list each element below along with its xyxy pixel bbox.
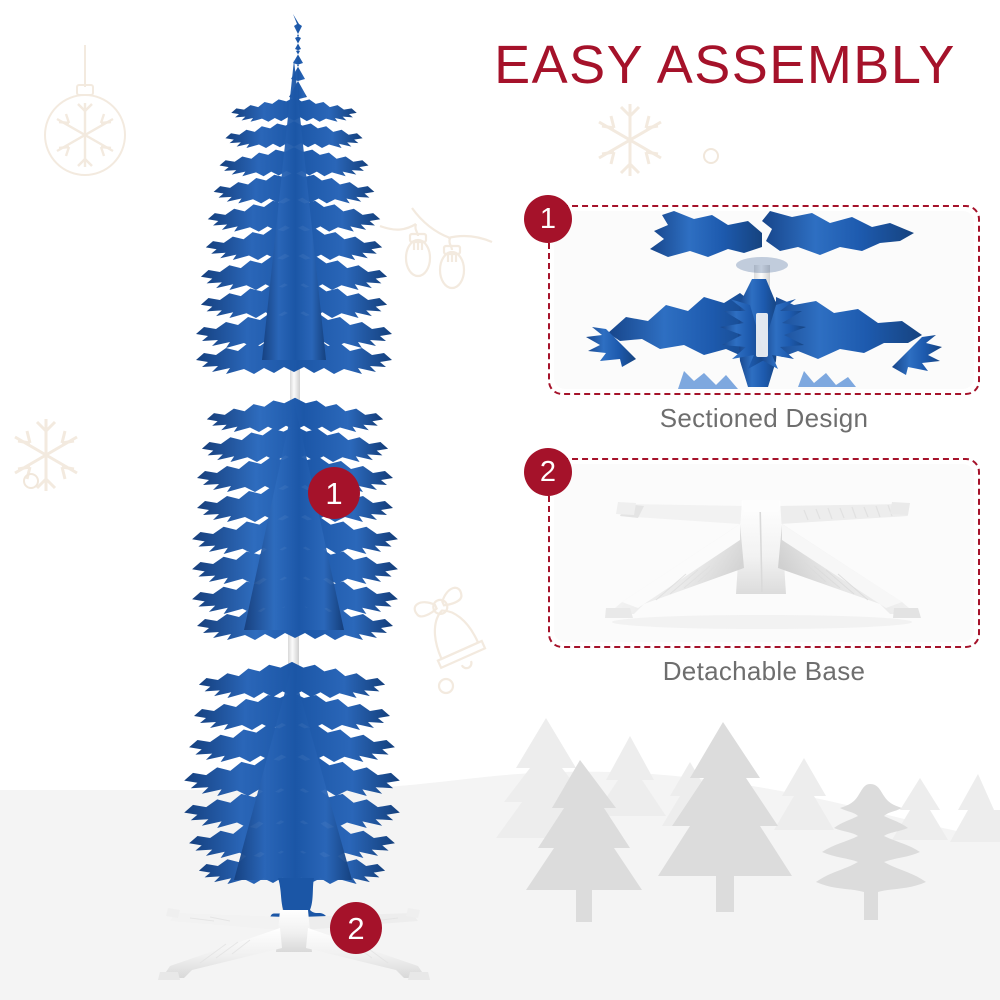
ornament-ball-snowflake-icon bbox=[30, 45, 140, 195]
callout-image-tree-section-joint bbox=[554, 211, 974, 389]
page-title: EASY ASSEMBLY bbox=[470, 34, 980, 96]
callout-badge-2[interactable]: 2 bbox=[524, 448, 572, 496]
callout-detachable-base: 2 Detachable Base bbox=[520, 458, 980, 687]
callout-image-white-cross-stand bbox=[554, 464, 974, 642]
callout-frame bbox=[548, 458, 980, 648]
marker-badge-2[interactable]: 2 bbox=[330, 902, 382, 954]
callout-badge-1[interactable]: 1 bbox=[524, 195, 572, 243]
snowflake-small-icon bbox=[20, 470, 42, 492]
callout-frame bbox=[548, 205, 980, 395]
callout-sectioned-design: 1 Sectioned Design bbox=[520, 205, 980, 434]
infographic-stage: EASY ASSEMBLY bbox=[0, 0, 1000, 1000]
callout-label-1: Sectioned Design bbox=[520, 403, 980, 434]
snowflake-icon bbox=[6, 415, 86, 495]
callout-label-2: Detachable Base bbox=[520, 656, 980, 687]
snowflake-small-icon bbox=[700, 145, 722, 167]
pine-tree-silhouettes bbox=[480, 690, 1000, 970]
snowflake-icon bbox=[590, 100, 670, 180]
product-image-blue-pencil-tree bbox=[130, 0, 460, 1000]
callout-panel-list: 1 Sectioned Design bbox=[520, 205, 980, 711]
marker-badge-1[interactable]: 1 bbox=[308, 467, 360, 519]
